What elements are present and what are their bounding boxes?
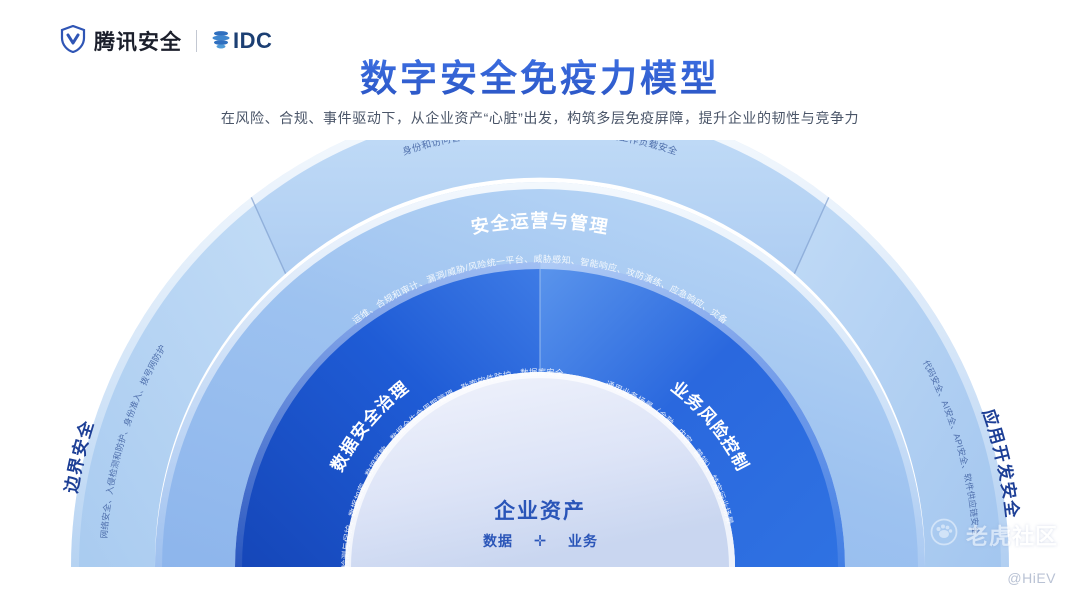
label-enterprise-assets-business: 业务 bbox=[568, 533, 598, 549]
label-enterprise-assets-data: 数据 bbox=[483, 533, 513, 549]
page-title: 数字安全免疫力模型 bbox=[0, 48, 1080, 102]
tiger-paw-icon bbox=[930, 518, 958, 551]
watermark: 老虎社区 bbox=[930, 518, 1058, 551]
immunity-model-diagram: 端点安全 身份和访问管理、终端检测与响应、容器安全、云工作负载安全 边界安全 网… bbox=[0, 140, 1080, 580]
page-subtitle: 在风险、合规、事件驱动下，从企业资产“心脏”出发，构筑多层免疫屏障，提升企业的韧… bbox=[0, 108, 1080, 128]
page-header: 腾讯安全 IDC 数字安全免疫力模型 在风险、合规、事件驱动下，从企业资产“心脏… bbox=[0, 0, 1080, 150]
watermark-label: 老虎社区 bbox=[966, 519, 1058, 551]
label-enterprise-assets-title: 企业资产 bbox=[493, 499, 586, 523]
watermark-handle: @HiEV bbox=[1007, 570, 1056, 586]
label-enterprise-assets-plus: ✛ bbox=[534, 533, 547, 550]
